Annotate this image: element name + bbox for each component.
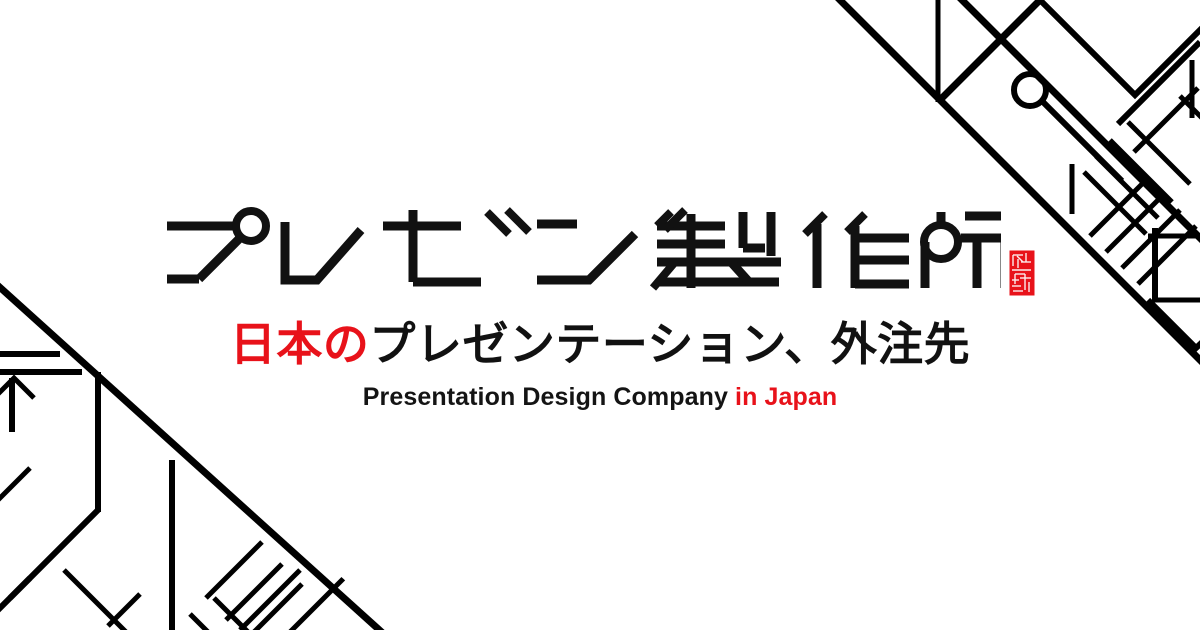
tagline-english: Presentation Design Company in Japan xyxy=(363,383,838,412)
wordmark-glyphs xyxy=(165,196,1001,300)
tagline-japanese-highlight: 日本の xyxy=(230,317,370,371)
tagline-japanese-rest: プレゼンテーション、外注先 xyxy=(369,317,970,371)
hero-content: 日本のプレゼンテーション、外注先 Presentation Design Com… xyxy=(0,196,1200,412)
logo-wordmark xyxy=(165,196,1035,300)
tagline-japanese: 日本のプレゼンテーション、外注先 xyxy=(230,318,970,371)
tagline-english-lead: Presentation Design Company xyxy=(363,383,735,411)
banner-canvas: 日本のプレゼンテーション、外注先 Presentation Design Com… xyxy=(0,0,1200,630)
hanko-seal-icon xyxy=(1009,250,1035,296)
tagline-english-highlight: in Japan xyxy=(735,383,837,411)
